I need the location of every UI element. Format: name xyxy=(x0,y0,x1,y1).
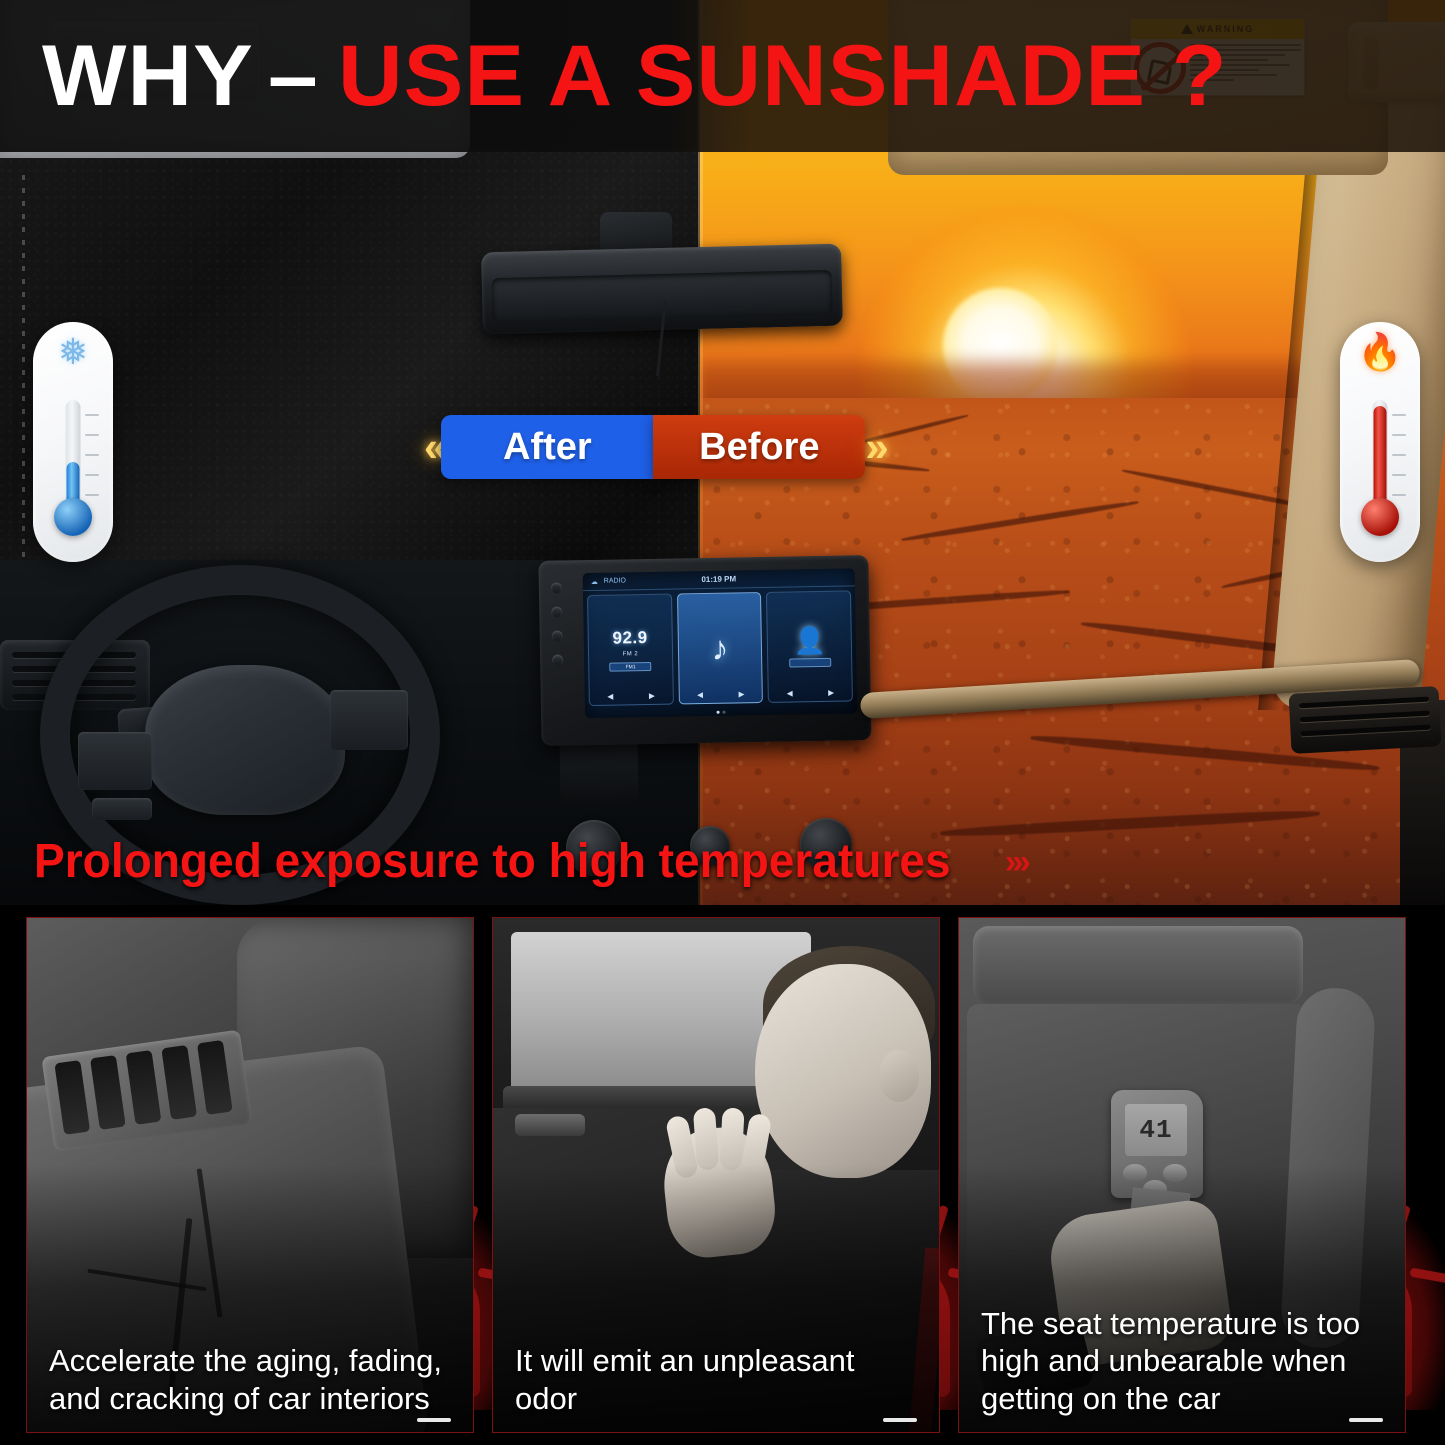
panel-seat-temp: 41 The seat temperature is too high and … xyxy=(958,917,1406,1433)
left-chevron-icon: « xyxy=(424,426,441,468)
phone-prev-icon[interactable]: ◀ xyxy=(787,689,793,697)
head-unit-button[interactable] xyxy=(551,606,562,617)
infotainment-source-label: RADIO xyxy=(604,577,626,584)
contact-slot[interactable] xyxy=(789,657,831,667)
infotainment-status-bar: ☁ RADIO 01:19 PM xyxy=(583,568,855,591)
caption-underscore xyxy=(417,1418,451,1422)
caption-underscore xyxy=(1349,1418,1383,1422)
media-next-icon[interactable]: ▶ xyxy=(739,690,745,698)
consequences-panel-row: Accelerate the aging, fading, and cracki… xyxy=(0,905,1445,1445)
subheadline-text: Prolonged exposure to high temperatures xyxy=(34,838,951,886)
headline-why: WHY xyxy=(42,33,254,119)
radio-frequency: 92.9 xyxy=(612,628,647,649)
infotainment-tiles: 92.9 FM 2 FM1 ◀ ▶ ♪ ◀ ▶ xyxy=(587,590,853,706)
infotainment-clock: 01:19 PM xyxy=(701,574,736,584)
radio-tile[interactable]: 92.9 FM 2 FM1 ◀ ▶ xyxy=(587,594,674,706)
phone-next-icon[interactable]: ▶ xyxy=(828,689,834,697)
cold-thermometer: ❅ xyxy=(33,322,113,562)
steering-wheel-right-buttons[interactable] xyxy=(330,690,408,750)
radio-tuning-arrows[interactable]: ◀ ▶ xyxy=(590,692,673,701)
radio-next-icon[interactable]: ▶ xyxy=(649,692,655,700)
media-transport-arrows[interactable]: ◀ ▶ xyxy=(679,690,762,699)
panel-aging: Accelerate the aging, fading, and cracki… xyxy=(26,917,474,1433)
sunshade-product-poster: WARNING xyxy=(0,0,1445,1445)
page-indicator-dots[interactable] xyxy=(717,711,726,714)
steering-wheel-volume-buttons[interactable] xyxy=(92,798,152,820)
flame-icon: 🔥 xyxy=(1358,334,1403,370)
headline-dash: – xyxy=(268,33,319,119)
thermometer-bulb-cold xyxy=(54,498,92,536)
thermometer-bulb-hot xyxy=(1361,498,1399,536)
head-unit-button[interactable] xyxy=(552,630,563,641)
head-unit-button[interactable] xyxy=(551,582,562,593)
radio-preset-button[interactable]: FM1 xyxy=(610,662,652,672)
right-chevron-icon: » xyxy=(865,426,882,468)
headline-use-a-sunshade: USE A SUNSHADE ? xyxy=(338,33,1228,119)
bluetooth-icon: ☁ xyxy=(591,577,598,585)
music-note-icon: ♪ xyxy=(711,631,729,665)
air-vent-right xyxy=(1289,686,1442,754)
after-badge: After xyxy=(441,415,653,479)
radio-prev-icon[interactable]: ◀ xyxy=(608,693,614,701)
subheadline-chevrons-icon: ››› xyxy=(1005,843,1027,882)
sunshade-stitching xyxy=(22,175,25,565)
phone-arrows[interactable]: ◀ ▶ xyxy=(769,688,852,697)
head-unit-button[interactable] xyxy=(552,654,563,665)
person-icon: 👤 xyxy=(793,626,826,653)
panel-caption: Accelerate the aging, fading, and cracki… xyxy=(49,1342,457,1418)
panel-caption: It will emit an unpleasant odor xyxy=(515,1342,923,1418)
snowflake-icon: ❅ xyxy=(58,334,88,370)
media-tile[interactable]: ♪ ◀ ▶ xyxy=(677,592,764,704)
caption-underscore xyxy=(883,1418,917,1422)
steering-wheel-airbag-hub xyxy=(145,665,345,815)
panel-caption: The seat temperature is too high and unb… xyxy=(981,1305,1389,1418)
before-badge: Before xyxy=(653,415,865,479)
subheadline: Prolonged exposure to high temperatures … xyxy=(34,838,1027,886)
infotainment-head-unit[interactable]: ☁ RADIO 01:19 PM 92.9 FM 2 FM1 ◀ ▶ xyxy=(538,555,871,746)
before-after-badge-group: « After Before » xyxy=(424,415,883,479)
head-unit-side-buttons[interactable] xyxy=(551,582,563,665)
steering-wheel-left-buttons[interactable] xyxy=(78,732,152,790)
panel-odor: It will emit an unpleasant odor xyxy=(492,917,940,1433)
page-title: WHY – USE A SUNSHADE ? xyxy=(0,0,1445,152)
radio-band: FM 2 xyxy=(623,651,639,657)
infotainment-screen[interactable]: ☁ RADIO 01:19 PM 92.9 FM 2 FM1 ◀ ▶ xyxy=(583,568,857,718)
hot-thermometer: 🔥 xyxy=(1340,322,1420,562)
media-prev-icon[interactable]: ◀ xyxy=(697,691,703,699)
phone-tile[interactable]: 👤 ◀ ▶ xyxy=(766,590,853,702)
